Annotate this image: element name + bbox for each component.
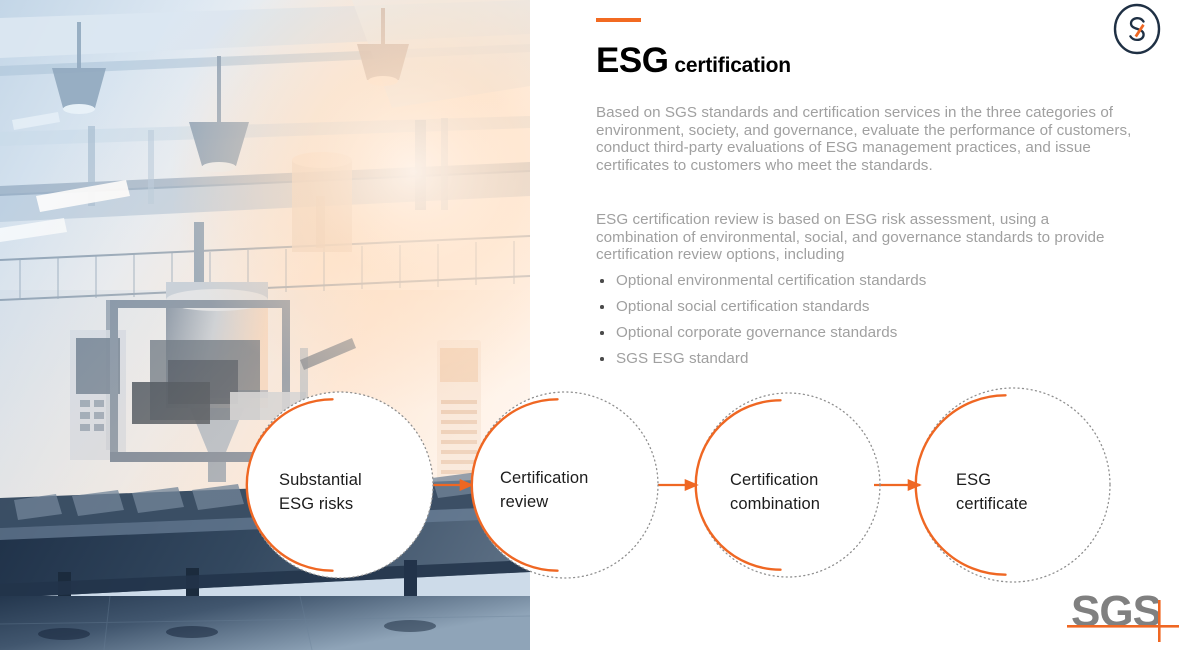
process-node-2-label: Certification review [500, 466, 588, 514]
intro-paragraph: Based on SGS standards and certification… [596, 104, 1132, 174]
process-node-3-label: Certification combination [730, 468, 820, 516]
process-node-4-label: ESG certificate [956, 468, 1028, 516]
list-item: Optional corporate governance standards [596, 320, 926, 346]
review-paragraph: ESG certification review is based on ESG… [596, 211, 1132, 264]
process-node-1-label: Substantial ESG risks [279, 468, 362, 516]
list-item: Optional social certification standards [596, 294, 926, 320]
list-item: SGS ESG standard [596, 346, 926, 372]
factory-photo [0, 0, 530, 650]
standards-list: Optional environmental certification sta… [596, 268, 926, 372]
sgs-circle-s-icon [1111, 3, 1163, 55]
page-title-primary: ESG [596, 41, 668, 80]
accent-bar [596, 18, 641, 22]
sgs-logo: SGS [1067, 586, 1185, 642]
factory-photo-illustration [0, 0, 530, 650]
page-title: ESGcertification [596, 41, 791, 81]
esg-certification-slide: ESGcertification Based on SGS standards … [0, 0, 1193, 650]
sgs-logo-text: SGS [1071, 587, 1161, 636]
list-item: Optional environmental certification sta… [596, 268, 926, 294]
page-title-secondary: certification [674, 54, 790, 77]
